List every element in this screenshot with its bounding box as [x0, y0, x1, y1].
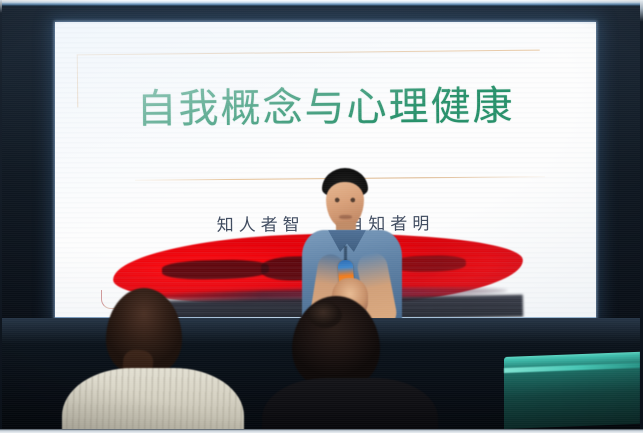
- audience-center-shoulders: [262, 378, 438, 433]
- audience-left-shoulders: [62, 368, 244, 433]
- screen-edge-top: [55, 22, 596, 24]
- slide-title: 自我概念与心理健康: [55, 86, 596, 131]
- presentation-photo: 自我概念与心理健康 知人者智 自知者明: [0, 0, 643, 433]
- photo-border-left: [0, 0, 2, 433]
- audience-member-center: [262, 296, 438, 433]
- ceiling-light-strip: [0, 0, 643, 7]
- audience-center-bun: [308, 302, 342, 328]
- photo-border-bottom: [0, 429, 643, 433]
- audience-member-left: [62, 288, 244, 433]
